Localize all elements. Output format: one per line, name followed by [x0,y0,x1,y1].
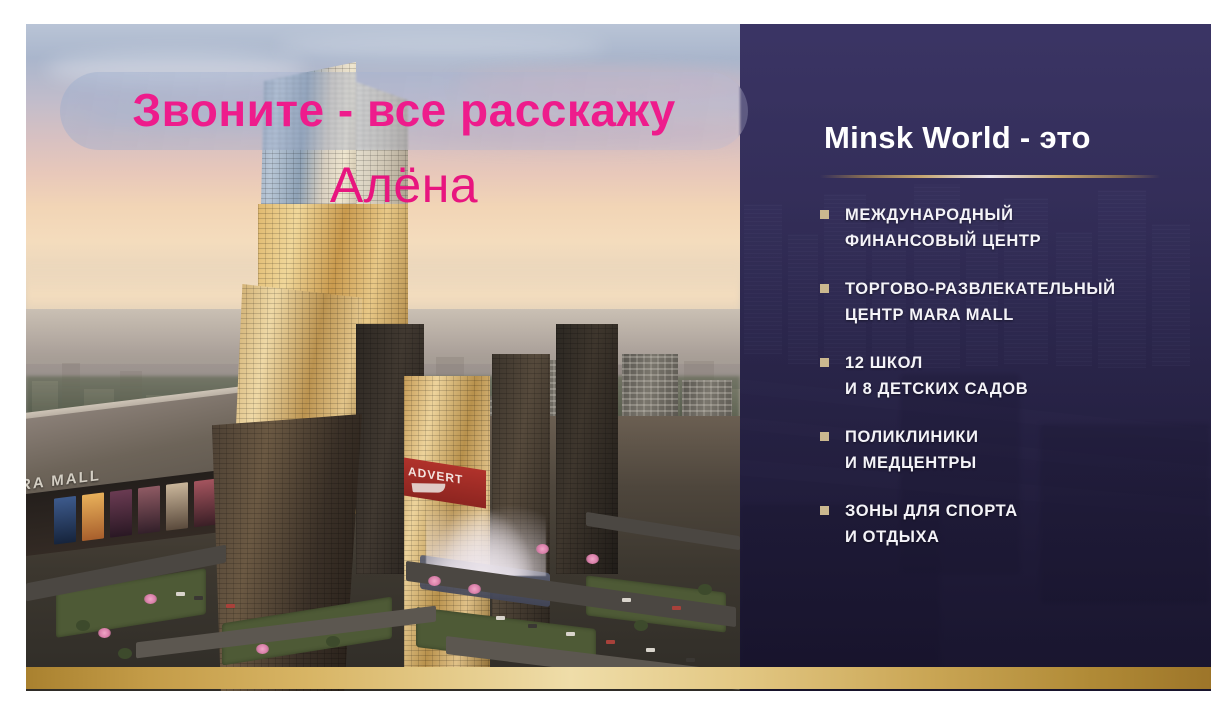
bottom-gold-bar [26,667,1211,689]
list-item-label: ТОРГОВО-РАЗВЛЕКАТЕЛЬНЫЙ ЦЕНТР MARA MALL [845,276,1116,328]
list-item: ЗОНЫ ДЛЯ СПОРТА И ОТДЫХА [820,498,1200,550]
fountain-jets [426,492,546,576]
square-bullet-icon [820,284,829,293]
list-item-label: 12 ШКОЛ И 8 ДЕТСКИХ САДОВ [845,350,1028,402]
list-item-label: ЗОНЫ ДЛЯ СПОРТА И ОТДЫХА [845,498,1018,550]
list-item-label: МЕЖДУНАРОДНЫЙ ФИНАНСОВЫЙ ЦЕНТР [845,202,1041,254]
dark-tower-right-b [556,324,618,574]
list-item-label: ПОЛИКЛИНИКИ И МЕДЦЕНТРЫ [845,424,979,476]
slide-frame: RA MALL ADVERT [26,24,1211,691]
list-item: ПОЛИКЛИНИКИ И МЕДЦЕНТРЫ [820,424,1200,476]
info-panel: Minsk World - это МЕЖДУНАРОДНЫЙ ФИНАНСОВ… [740,24,1211,691]
contact-name-text: Алёна [72,156,736,214]
panel-title: Minsk World - это [824,120,1091,156]
feature-list: МЕЖДУНАРОДНЫЙ ФИНАНСОВЫЙ ЦЕНТР ТОРГОВО-Р… [820,202,1200,572]
square-bullet-icon [820,432,829,441]
list-item: ТОРГОВО-РАЗВЛЕКАТЕЛЬНЫЙ ЦЕНТР MARA MALL [820,276,1200,328]
square-bullet-icon [820,506,829,515]
gold-divider [820,175,1160,178]
list-item: 12 ШКОЛ И 8 ДЕТСКИХ САДОВ [820,350,1200,402]
cloud-shape [276,34,606,60]
list-item: МЕЖДУНАРОДНЫЙ ФИНАНСОВЫЙ ЦЕНТР [820,202,1200,254]
square-bullet-icon [820,210,829,219]
slide-root: RA MALL ADVERT [0,0,1225,709]
square-bullet-icon [820,358,829,367]
headline-text: Звоните - все расскажу [72,82,736,138]
